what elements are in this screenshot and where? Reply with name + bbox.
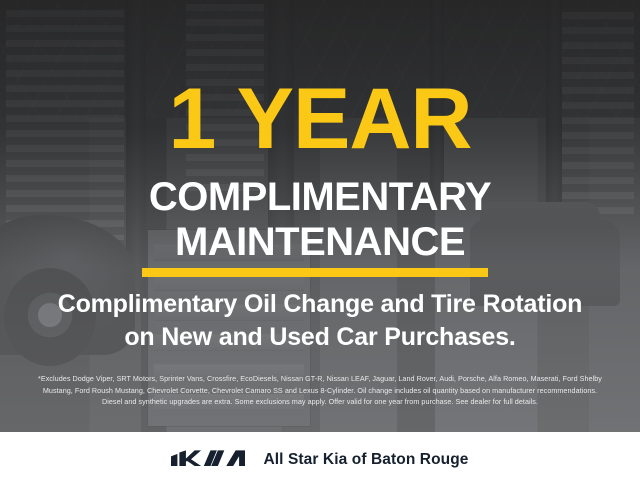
tagline-line-1: Complimentary Oil Change and Tire Rotati… [0, 288, 640, 321]
subhead-line-1: COMPLIMENTARY [0, 177, 640, 217]
yellow-divider [142, 268, 488, 277]
disclaimer-line-1: *Excludes Dodge Viper, SRT Motors, Sprin… [16, 373, 624, 385]
tagline: Complimentary Oil Change and Tire Rotati… [0, 288, 640, 355]
subhead-line-2: MAINTENANCE [0, 222, 640, 262]
disclaimer-line-2: Mustang, Ford Roush Mustang, Chevrolet C… [16, 385, 624, 397]
dealer-name: All Star Kia of Baton Rouge [263, 451, 468, 469]
kia-logo [171, 450, 245, 470]
hero-banner: 1 YEAR COMPLIMENTARY MAINTENANCE Complim… [0, 0, 640, 432]
headline: 1 YEAR [0, 78, 640, 161]
hero-copy: 1 YEAR COMPLIMENTARY MAINTENANCE Complim… [0, 0, 640, 432]
dealer-footer: All Star Kia of Baton Rouge [0, 432, 640, 488]
disclaimer: *Excludes Dodge Viper, SRT Motors, Sprin… [16, 373, 624, 408]
tagline-line-2: on New and Used Car Purchases. [0, 321, 640, 354]
promo-ad: 1 YEAR COMPLIMENTARY MAINTENANCE Complim… [0, 0, 640, 488]
disclaimer-line-3: Diesel and synthetic upgrades are extra.… [16, 396, 624, 408]
